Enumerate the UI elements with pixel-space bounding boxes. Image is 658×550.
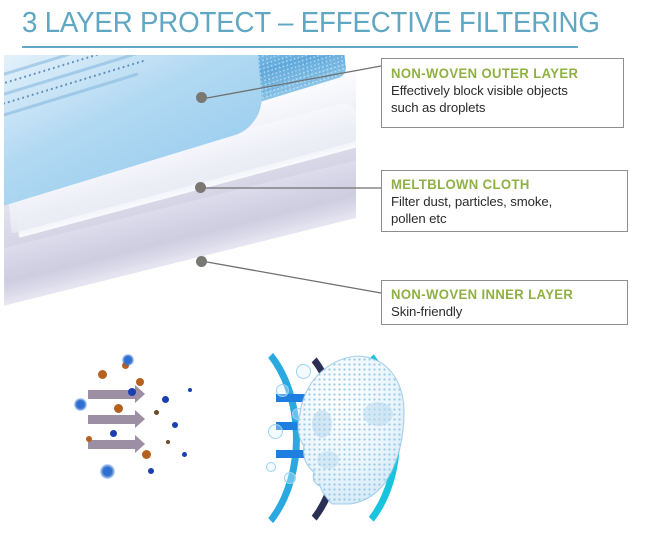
title-underline-rule	[22, 46, 578, 48]
callout-heading-meltblown: MELTBLOWN CLOTH	[391, 177, 620, 193]
callout-body-outer: Effectively block visible objects such a…	[391, 83, 623, 116]
virus-blob-3	[122, 354, 134, 366]
virus-blob-2	[100, 464, 115, 479]
incoming-air-arrow-3	[88, 440, 136, 449]
callout-body-meltblown: Filter dust, particles, smoke, pollen et…	[391, 194, 627, 227]
callout-body-meltblown-line-2: pollen etc	[391, 211, 627, 228]
callout-box-inner-layer[interactable]: NON-WOVEN INNER LAYER Skin-friendly	[381, 280, 628, 325]
page-title-text: 3 LAYER PROTECT – EFFECTIVE FILTERING	[22, 8, 600, 38]
air-bubble-5	[268, 424, 283, 439]
head-nose-shadow	[312, 410, 332, 438]
particle-orange-3	[136, 378, 144, 386]
callout-box-meltblown-cloth[interactable]: MELTBLOWN CLOTH Filter dust, particles, …	[381, 170, 628, 232]
callout-body-inner-line-1: Skin-friendly	[391, 304, 627, 321]
callout-heading-outer: NON-WOVEN OUTER LAYER	[391, 66, 616, 82]
virus-blob-1	[74, 398, 87, 411]
head-mouth-shadow	[317, 451, 339, 469]
particle-orange-4	[114, 404, 123, 413]
callout-body-outer-line-2: such as droplets	[391, 100, 623, 117]
callout-dot-outer[interactable]	[196, 92, 207, 103]
callout-body-outer-line-1: Effectively block visible objects	[391, 83, 623, 100]
infographic-canvas: 3 LAYER PROTECT – EFFECTIVE FILTERING NO…	[0, 0, 658, 523]
particle-orange-6	[86, 436, 92, 442]
callout-body-meltblown-line-1: Filter dust, particles, smoke,	[391, 194, 627, 211]
particle-blue-1	[128, 388, 136, 396]
head-eye-socket	[363, 402, 393, 426]
wearer-head-wireframe	[292, 352, 412, 512]
page-title: 3 LAYER PROTECT – EFFECTIVE FILTERING	[22, 8, 622, 50]
particle-orange-1	[98, 370, 107, 379]
mask-layers-photo	[4, 55, 356, 345]
callout-body-inner: Skin-friendly	[391, 304, 627, 321]
particle-blue-2	[110, 430, 117, 437]
incoming-air-arrow-2	[88, 415, 136, 424]
callout-heading-inner: NON-WOVEN INNER LAYER	[391, 287, 620, 303]
callout-box-outer-layer[interactable]: NON-WOVEN OUTER LAYER Effectively block …	[381, 58, 624, 128]
air-bubble-3	[276, 384, 289, 397]
callout-dot-inner[interactable]	[196, 256, 207, 267]
callout-dot-meltblown[interactable]	[195, 182, 206, 193]
air-bubble-9	[266, 462, 276, 472]
